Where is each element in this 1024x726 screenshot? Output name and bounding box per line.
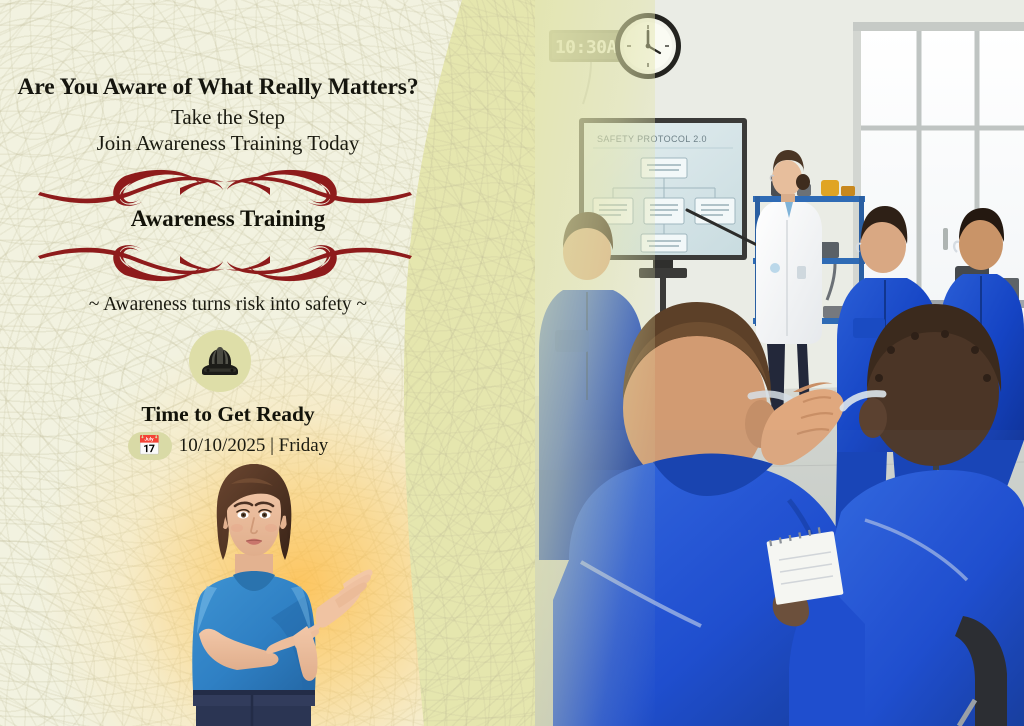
- classroom-scene: 10:30AM SAFETY PROTOCO: [535, 0, 1024, 726]
- poster-subline-one: Take the Step: [18, 105, 438, 130]
- calendar-icon: 📅: [128, 432, 172, 460]
- date-row: 📅 10/10/2025 | Friday: [18, 432, 438, 460]
- hard-hat-badge: [189, 330, 251, 392]
- ready-title: Time to Get Ready: [18, 402, 438, 427]
- hard-hat-icon: [199, 344, 241, 378]
- left-content-stack: Are You Aware of What Really Matters? Ta…: [0, 0, 430, 726]
- analog-wall-clock: [615, 13, 681, 79]
- ornamental-flourish-icon-top: [30, 166, 420, 208]
- poster-subline-two: Join Awareness Training Today: [18, 131, 438, 156]
- svg-text:SAFETY PROTOCOL 2.0: SAFETY PROTOCOL 2.0: [597, 134, 707, 144]
- training-photo: 10:30AM SAFETY PROTOCO: [535, 0, 1024, 726]
- section-title: Awareness Training: [18, 206, 438, 232]
- poster-headline: Are You Aware of What Really Matters?: [8, 74, 428, 101]
- left-info-panel: Are You Aware of What Really Matters? Ta…: [0, 0, 535, 726]
- event-date-text: 10/10/2025 | Friday: [179, 435, 328, 457]
- presenter-illustration: [121, 458, 391, 726]
- tagline-text: ~ Awareness turns risk into safety ~: [18, 294, 438, 316]
- training-poster: Are You Aware of What Really Matters? Ta…: [0, 0, 1024, 726]
- ornamental-flourish-icon-bottom: [30, 243, 420, 285]
